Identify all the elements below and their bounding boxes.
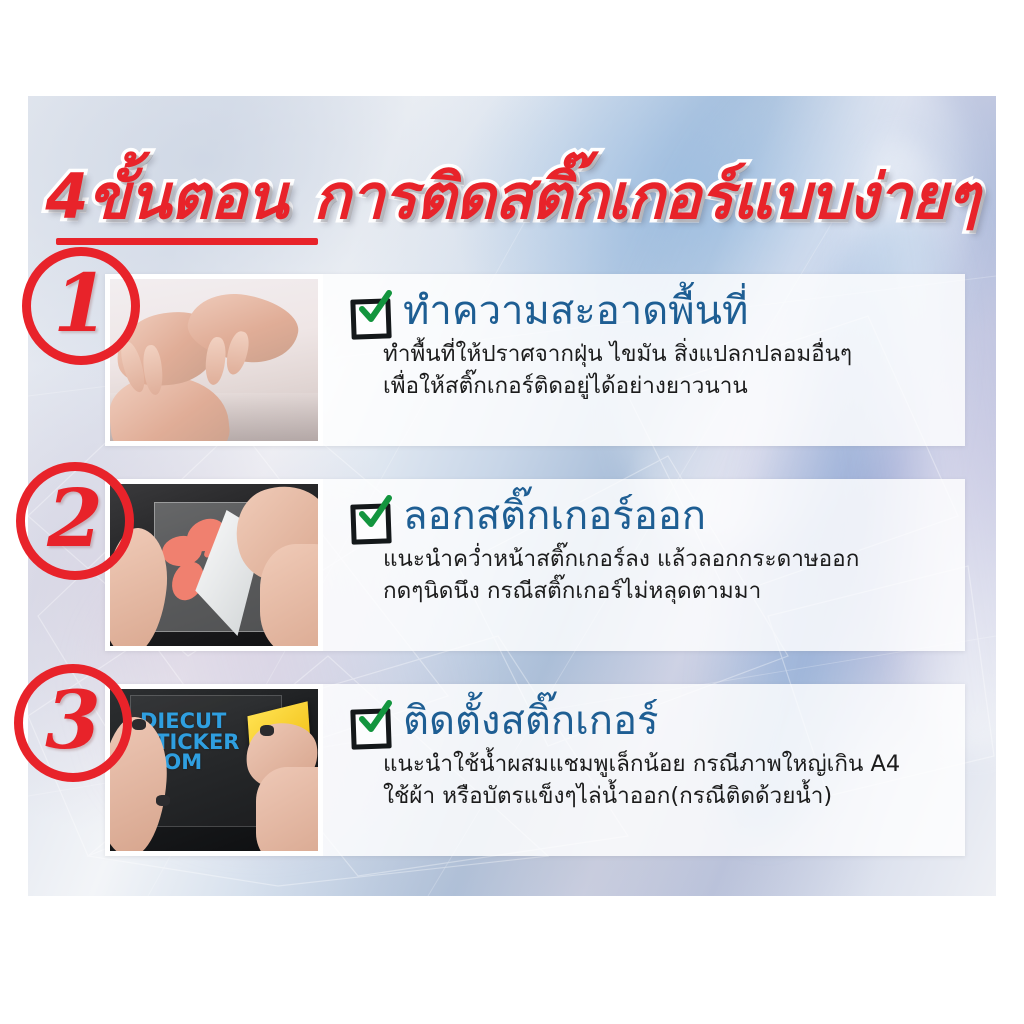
badge-number-2: 2 bbox=[16, 462, 134, 580]
checked-checkbox-icon bbox=[349, 703, 387, 741]
step-2-body-line-1: แนะนำคว่ำหน้าสติ๊กเกอร์ลง แล้วลอกกระดาษอ… bbox=[383, 544, 947, 576]
poster-root: 4ขั้นตอนการติดสติ๊กเกอร์แบบง่ายๆ bbox=[0, 0, 1024, 1024]
step-2-title: ลอกสติ๊กเกอร์ออก bbox=[403, 493, 706, 540]
poster-title: 4ขั้นตอนการติดสติ๊กเกอร์แบบง่ายๆ bbox=[0, 166, 1024, 228]
checked-checkbox-icon bbox=[349, 293, 387, 331]
step-3-title: ติดตั้งสติ๊กเกอร์ bbox=[403, 698, 658, 745]
step-number-badge-3: 3 bbox=[14, 664, 132, 782]
step-number-badge-2: 2 bbox=[16, 462, 134, 580]
checked-checkbox-icon bbox=[349, 498, 387, 536]
step-card-2: ลอกสติ๊กเกอร์ออก แนะนำคว่ำหน้าสติ๊กเกอร์… bbox=[105, 479, 965, 651]
step-2-body: แนะนำคว่ำหน้าสติ๊กเกอร์ลง แล้วลอกกระดาษอ… bbox=[383, 544, 947, 608]
step-2-photo bbox=[105, 479, 323, 651]
step-2-text: ลอกสติ๊กเกอร์ออก แนะนำคว่ำหน้าสติ๊กเกอร์… bbox=[323, 479, 965, 651]
step-number-badge-1: 1 bbox=[22, 247, 140, 365]
step-1-text: ทำความสะอาดพื้นที่ ทำพื้นที่ให้ปราศจากฝุ… bbox=[323, 274, 965, 446]
step-3-body-line-1: แนะนำใช้น้ำผสมแชมพูเล็กน้อย กรณีภาพใหญ่เ… bbox=[383, 749, 947, 781]
badge-number-3: 3 bbox=[14, 664, 132, 782]
step-3-body-line-2: ใช้ผ้า หรือบัตรแข็งๆไล่น้ำออก(กรณีติดด้ว… bbox=[383, 781, 947, 813]
step-1-body: ทำพื้นที่ให้ปราศจากฝุ่น ไขมัน สิ่งแปลกปล… bbox=[383, 339, 947, 403]
step-3-body: แนะนำใช้น้ำผสมแชมพูเล็กน้อย กรณีภาพใหญ่เ… bbox=[383, 749, 947, 813]
step-2-body-line-2: กดๆนิดนึง กรณีสติ๊กเกอร์ไม่หลุดตามมา bbox=[383, 576, 947, 608]
badge-number-1: 1 bbox=[22, 247, 140, 365]
title-underline bbox=[56, 238, 318, 245]
title-part-main: การติดสติ๊กเกอร์แบบง่ายๆ bbox=[313, 166, 978, 228]
title-part-steps: 4ขั้นตอน bbox=[45, 166, 287, 228]
step-card-3: DIECUT STICKER .COM bbox=[105, 684, 965, 856]
step-1-body-line-2: เพื่อให้สติ๊กเกอร์ติดอยู่ได้อย่างยาวนาน bbox=[383, 371, 947, 403]
step-3-text: ติดตั้งสติ๊กเกอร์ แนะนำใช้น้ำผสมแชมพูเล็… bbox=[323, 684, 965, 856]
step-1-title: ทำความสะอาดพื้นที่ bbox=[403, 288, 748, 335]
step-1-body-line-1: ทำพื้นที่ให้ปราศจากฝุ่น ไขมัน สิ่งแปลกปล… bbox=[383, 339, 947, 371]
step-3-photo: DIECUT STICKER .COM bbox=[105, 684, 323, 856]
step-card-1: ทำความสะอาดพื้นที่ ทำพื้นที่ให้ปราศจากฝุ… bbox=[105, 274, 965, 446]
